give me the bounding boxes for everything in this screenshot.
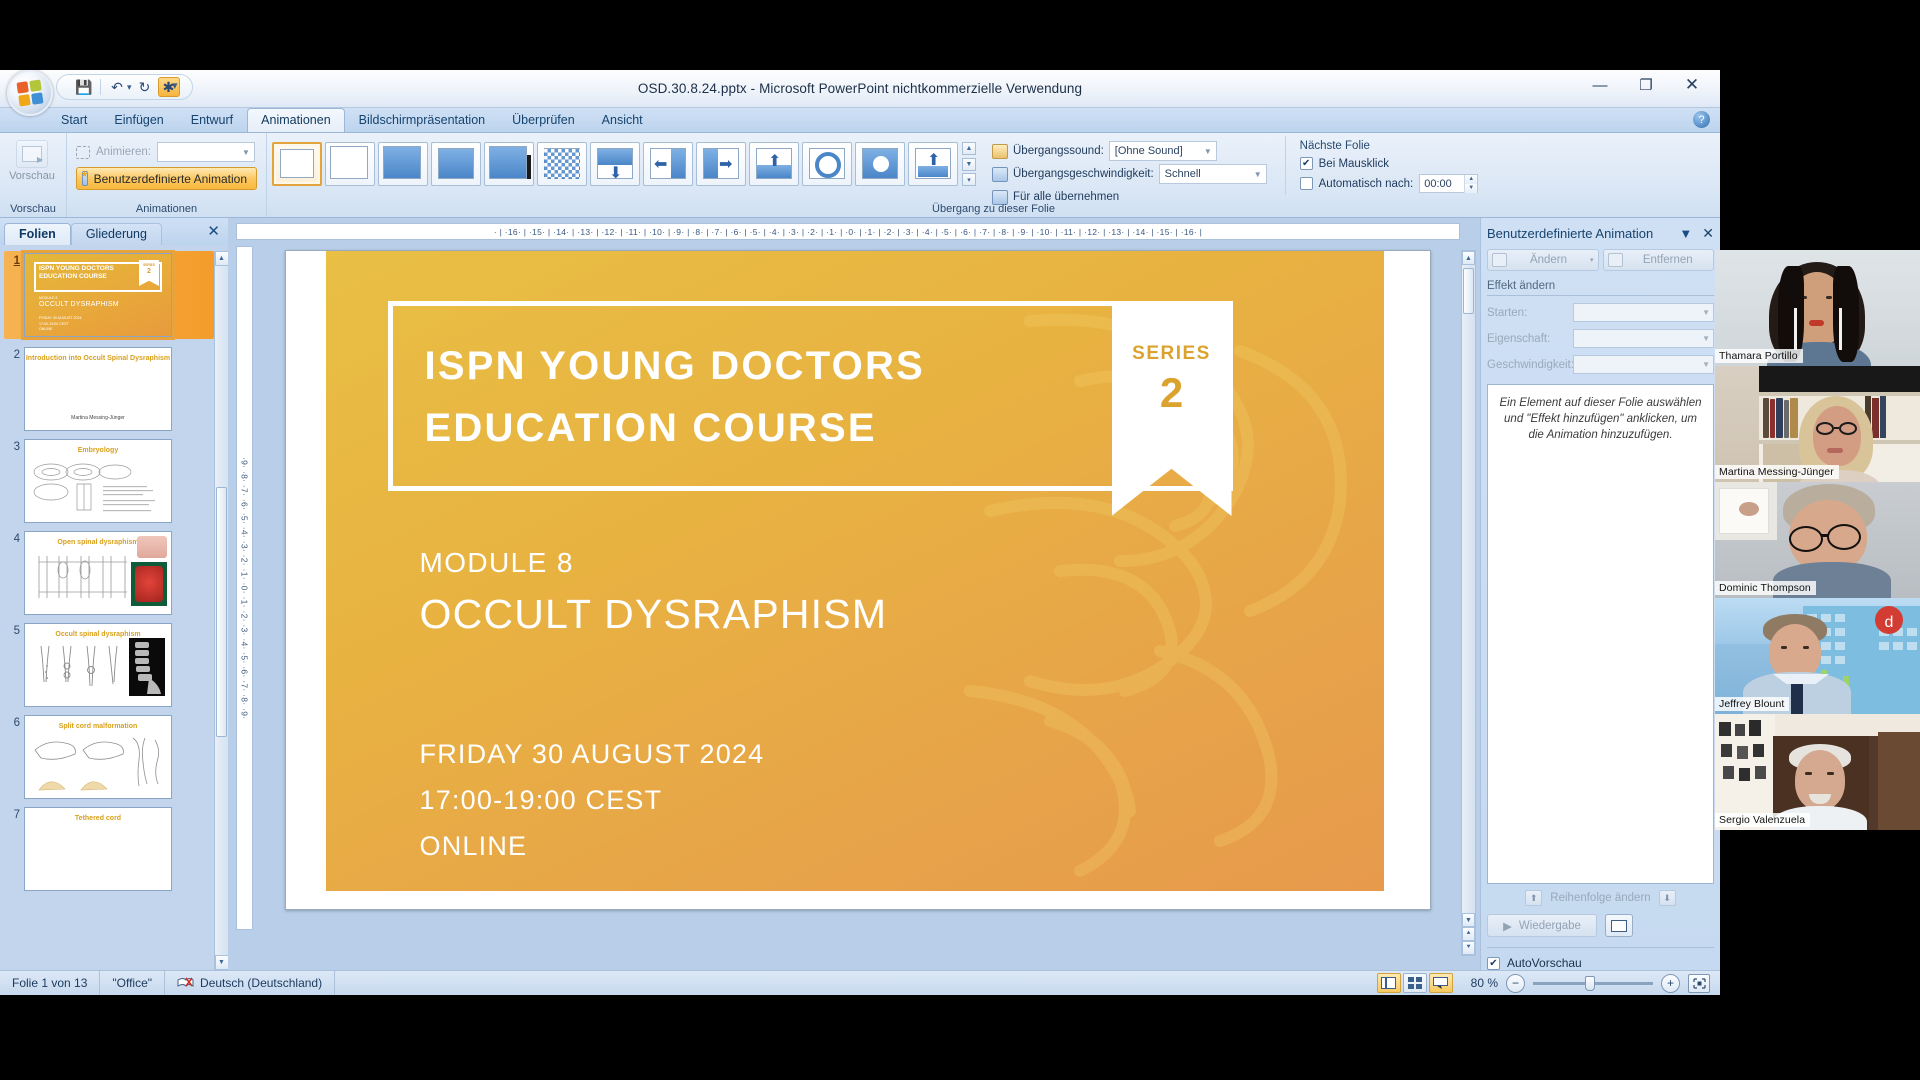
zoom-slider-handle[interactable] [1585, 976, 1595, 991]
thumbnail-slide-3[interactable]: 3 Embryology [4, 439, 214, 523]
title-bar: 💾 ↶ ▾ ↻ ✱ ▾ OSD.30.8.24.pptx - Microsoft… [0, 70, 1720, 108]
video-tile-dominic-thompson[interactable]: Dominic Thompson [1715, 482, 1920, 598]
chevron-down-icon: ▼ [1204, 147, 1212, 156]
tab-start[interactable]: Start [48, 109, 100, 132]
transition-push-left[interactable]: ⬅ [643, 142, 693, 186]
animate-dropdown[interactable]: ▼ [157, 142, 255, 162]
language-label: Deutsch (Deutschland) [200, 976, 322, 990]
reorder-row: ⬆ Reihenfolge ändern ⬇ [1487, 890, 1714, 906]
series-badge-number: 2 [1112, 369, 1232, 417]
theme-name[interactable]: "Office" [100, 971, 165, 995]
scroll-up-icon[interactable]: ▲ [215, 251, 229, 266]
transition-none[interactable] [272, 142, 322, 186]
transition-sound-value: [Ohne Sound] [1110, 145, 1204, 157]
participant-name: Dominic Thompson [1715, 581, 1816, 595]
transition-speed-dropdown[interactable]: Schnell ▼ [1159, 164, 1267, 184]
play-icon: ▶ [1503, 919, 1512, 933]
vertical-ruler[interactable]: ·9· ·8· ·7· ·6· ·5· ·4· ·3· ·2· ·1· ·0· … [236, 246, 253, 930]
status-bar: Folie 1 von 13 "Office" Deutsch (Deutsch… [0, 970, 1720, 995]
fit-to-window-button[interactable] [1688, 974, 1710, 993]
property-label: Eigenschaft: [1487, 333, 1573, 345]
view-buttons [1377, 973, 1463, 993]
scroll-down-icon[interactable]: ▼ [1462, 913, 1475, 927]
transition-shape[interactable] [855, 142, 905, 186]
move-down-icon[interactable]: ⬇ [1659, 890, 1676, 906]
autopreview-label: AutoVorschau [1507, 956, 1582, 970]
remove-effect-label: Entfernen [1627, 254, 1710, 266]
next-slide-options: Nächste Folie ✔ Bei Mausklick ✔ Automati… [1285, 136, 1483, 195]
chevron-down-icon: ▼ [1254, 170, 1262, 179]
spellcheck-icon [177, 976, 194, 990]
group-label-preview: Vorschau [0, 203, 66, 215]
transition-options: Übergangssound: [Ohne Sound] ▼ Übergangs… [992, 136, 1267, 207]
effect-section-title: Effekt ändern [1487, 280, 1714, 296]
next-slide-icon[interactable]: ⯆ [1462, 941, 1475, 955]
stepper-down-icon[interactable]: ▼ [1465, 184, 1477, 193]
transition-wheel[interactable] [802, 142, 852, 186]
auto-after-row[interactable]: ✔ Automatisch nach: 00:00 ▲▼ [1296, 172, 1483, 195]
custom-animation-icon [82, 171, 88, 186]
tab-folien[interactable]: Folien [4, 223, 71, 245]
sound-icon [992, 144, 1008, 159]
thumbnail-image: Tethered cord [24, 807, 172, 891]
maximize-button[interactable]: ❐ [1624, 72, 1668, 98]
transition-push-right[interactable]: ➡ [696, 142, 746, 186]
video-tile-sergio-valenzuela[interactable]: Sergio Valenzuela [1715, 714, 1920, 830]
transition-speed-row: Übergangsgeschwindigkeit: Schnell ▼ [992, 164, 1267, 184]
group-label-animations: Animationen [67, 203, 266, 215]
speed-icon [992, 167, 1008, 182]
thumbnail-image: Split cord malformation [24, 715, 172, 799]
language-status[interactable]: Deutsch (Deutschland) [165, 971, 335, 995]
gallery-scroll-down-icon[interactable]: ▼ [962, 158, 976, 171]
slides-pane-scrollbar[interactable]: ▲ ▼ [214, 251, 228, 970]
transition-sound-label: Übergangssound: [1013, 145, 1104, 157]
gallery-more-icon[interactable]: ▾ [962, 173, 976, 186]
thumbnail-number: 1 [4, 253, 24, 267]
thumbnail-image: Embryology [24, 439, 172, 523]
property-field-row: Eigenschaft: ▼ [1487, 329, 1714, 348]
reorder-label: Reihenfolge ändern [1550, 892, 1650, 904]
transition-fade-1[interactable] [325, 142, 375, 186]
thumbnail-number: 7 [4, 807, 24, 821]
custom-animation-label: Benutzerdefinierte Animation [94, 172, 247, 186]
powerpoint-window: 💾 ↶ ▾ ↻ ✱ ▾ OSD.30.8.24.pptx - Microsoft… [0, 70, 1720, 995]
tab-einfuegen[interactable]: Einfügen [101, 109, 176, 132]
save-icon[interactable]: 💾 [73, 77, 95, 97]
tab-ansicht[interactable]: Ansicht [589, 109, 656, 132]
next-slide-title: Nächste Folie [1296, 136, 1483, 155]
transition-speed-value: Schnell [1160, 168, 1254, 180]
gallery-scrollbar[interactable]: ▲ ▼ ▾ [962, 142, 976, 186]
slide-time: 17:00-19:00 CEST [420, 777, 765, 823]
svg-text:d: d [1885, 614, 1894, 631]
chevron-down-icon[interactable]: ▾ [1590, 256, 1594, 264]
close-button[interactable]: ✕ [1670, 72, 1714, 98]
slide-details: FRIDAY 30 AUGUST 2024 17:00-19:00 CEST O… [420, 731, 765, 869]
thumbnail-number: 4 [4, 531, 24, 545]
stepper-up-icon[interactable]: ▲ [1465, 175, 1477, 184]
thumbnail-subtitle: Martina Messing-Jünger [25, 415, 171, 421]
series-badge: SERIES 2 [1112, 301, 1232, 516]
ribbon-group-transition: ⬇ ⬅ ➡ ⬆ ⬆ ▲ ▼ ▾ [266, 133, 1720, 217]
workspace: Folien Gliederung ✕ 1 ISPN YOUNG DOCTORS… [0, 218, 1720, 970]
video-tile-thamara-portillo[interactable]: Thamara Portillo [1715, 250, 1920, 366]
slideshow-view-button[interactable] [1429, 973, 1453, 993]
transition-gallery: ⬇ ⬅ ➡ ⬆ ⬆ [272, 136, 958, 186]
slide-thumbnail-list[interactable]: 1 ISPN YOUNG DOCTORSEDUCATION COURSE SER… [0, 245, 228, 970]
thumbnail-image: Open spinal dysraphism [24, 531, 172, 615]
tab-bildschirmpraesentation[interactable]: Bildschirmpräsentation [346, 109, 498, 132]
video-tile-jeffrey-blount[interactable]: d Jeffrey Blount [1715, 598, 1920, 714]
animate-icon [76, 146, 90, 159]
move-up-icon[interactable]: ⬆ [1525, 890, 1542, 906]
thumbnail-image: ISPN YOUNG DOCTORSEDUCATION COURSE SERIE… [24, 253, 172, 337]
transition-wipe-2[interactable] [484, 142, 534, 186]
remove-effect-icon [1608, 253, 1623, 267]
play-button[interactable]: ▶ Wiedergabe [1487, 914, 1597, 937]
start-label: Starten: [1487, 307, 1573, 319]
transition-dissolve[interactable] [537, 142, 587, 186]
slide-header-line2: EDUCATION COURSE [425, 406, 877, 450]
apply-to-all-label: Für alle übernehmen [1013, 191, 1119, 203]
participant-name: Sergio Valenzuela [1715, 813, 1810, 827]
slide-date: FRIDAY 30 AUGUST 2024 [420, 731, 765, 777]
window-title: OSD.30.8.24.pptx - Microsoft PowerPoint … [0, 81, 1720, 96]
thumbnail-title: Split cord malformation [25, 723, 171, 730]
tab-entwurf[interactable]: Entwurf [178, 109, 246, 132]
qat-more-icon[interactable]: ▾ [172, 79, 178, 92]
zoom-out-button[interactable]: − [1506, 974, 1525, 993]
scroll-down-icon[interactable]: ▼ [215, 955, 229, 970]
video-tile-martina-messing-junger[interactable]: Martina Messing-Jünger [1715, 366, 1920, 482]
scroll-up-icon[interactable]: ▲ [1462, 251, 1475, 265]
slide-count: Folie 1 von 13 [0, 971, 100, 995]
window-controls: — ❐ ✕ [1578, 72, 1714, 98]
start-dropdown[interactable]: ▼ [1573, 303, 1714, 322]
slide-topic: OCCULT DYSRAPHISM [420, 591, 888, 638]
autopreview-row[interactable]: ✔ AutoVorschau [1487, 947, 1714, 970]
zoom-level: 80 % [1463, 976, 1506, 990]
thumbnail-slide-7[interactable]: 7 Tethered cord [4, 807, 214, 891]
undo-icon[interactable]: ↶ [106, 77, 128, 97]
thumbnail-slide-4[interactable]: 4 Open spinal dysraphism [4, 531, 214, 615]
participant-name: Jeffrey Blount [1715, 697, 1789, 711]
speed-label: Geschwindigkeit: [1487, 359, 1573, 371]
header-frame: ISPN YOUNG DOCTORS EDUCATION COURSE SERI… [388, 301, 1233, 491]
change-effect-button[interactable]: Ändern ▾ [1487, 249, 1599, 271]
ribbon-tabstrip: Start Einfügen Entwurf Animationen Bilds… [0, 108, 1720, 133]
thumbnail-number: 6 [4, 715, 24, 729]
change-effect-label: Ändern [1511, 254, 1586, 266]
close-icon[interactable]: ✕ [1702, 225, 1714, 242]
thumbnail-title: Introduction into Occult Spinal Dysraphi… [25, 355, 171, 362]
scrollbar-thumb[interactable] [216, 487, 227, 737]
on-mouse-click-checkbox[interactable]: ✔ [1300, 157, 1313, 170]
autopreview-checkbox[interactable]: ✔ [1487, 957, 1500, 970]
tab-ueberpruefen[interactable]: Überprüfen [499, 109, 588, 132]
transition-uncover-up[interactable]: ⬆ [749, 142, 799, 186]
thumbnail-title: Tethered cord [25, 815, 171, 822]
auto-after-label: Automatisch nach: [1319, 178, 1414, 190]
auto-after-stepper[interactable]: 00:00 ▲▼ [1419, 174, 1478, 193]
start-field-row: Starten: ▼ [1487, 303, 1714, 322]
slide-scrollbar[interactable]: ▲ ▼ ⯅ ⯆ [1461, 250, 1476, 956]
play-row: ▶ Wiedergabe [1487, 914, 1714, 937]
thumbnail-number: 5 [4, 623, 24, 637]
transition-cover-down[interactable]: ⬇ [590, 142, 640, 186]
slides-pane-tabs: Folien Gliederung ✕ [0, 218, 228, 245]
normal-view-button[interactable] [1377, 973, 1401, 993]
play-label: Wiedergabe [1519, 920, 1581, 932]
speed-field-row: Geschwindigkeit: ▼ [1487, 355, 1714, 374]
slides-pane: Folien Gliederung ✕ 1 ISPN YOUNG DOCTORS… [0, 218, 228, 970]
thumbnail-title: Embryology [25, 447, 171, 454]
transition-fade-2[interactable] [378, 142, 428, 186]
speed-dropdown[interactable]: ▼ [1573, 355, 1714, 374]
transition-wipe-1[interactable] [431, 142, 481, 186]
transition-newsflash[interactable]: ⬆ [908, 142, 958, 186]
slide-stage[interactable]: ISPN YOUNG DOCTORS EDUCATION COURSE SERI… [253, 240, 1480, 970]
animation-list[interactable]: Ein Element auf dieser Folie auswählen u… [1487, 384, 1714, 884]
slide-header-line1: ISPN YOUNG DOCTORS [425, 344, 925, 388]
thumbnail-slide-5[interactable]: 5 Occult spinal dysraphism [4, 623, 214, 707]
previous-slide-icon[interactable]: ⯅ [1462, 927, 1475, 941]
auto-after-checkbox[interactable]: ✔ [1300, 177, 1313, 190]
ribbon: Vorschau Vorschau Animieren: ▼ Ben [0, 133, 1720, 218]
chevron-down-icon[interactable]: ▼ [1679, 226, 1692, 241]
tab-gliederung[interactable]: Gliederung [71, 223, 162, 245]
custom-animation-pane: Benutzerdefinierte Animation ▼ ✕ Ändern … [1480, 218, 1720, 970]
participant-name: Martina Messing-Jünger [1715, 465, 1839, 479]
tab-animationen[interactable]: Animationen [247, 108, 345, 132]
gallery-scroll-up-icon[interactable]: ▲ [962, 142, 976, 155]
office-button-icon[interactable] [7, 70, 53, 116]
slide-sorter-view-button[interactable] [1403, 973, 1427, 993]
zoom-in-button[interactable]: + [1661, 974, 1680, 993]
preview-button-label: Vorschau [9, 170, 55, 182]
chevron-down-icon: ▼ [242, 148, 250, 157]
slide-canvas[interactable]: ISPN YOUNG DOCTORS EDUCATION COURSE SERI… [285, 250, 1431, 910]
preview-icon [16, 140, 48, 168]
transition-speed-label: Übergangsgeschwindigkeit: [1013, 168, 1154, 180]
on-mouse-click-row[interactable]: ✔ Bei Mausklick [1296, 155, 1483, 172]
transition-sound-dropdown[interactable]: [Ohne Sound] ▼ [1109, 141, 1217, 161]
animate-row: Animieren: ▼ [72, 136, 261, 162]
thumbnail-number: 3 [4, 439, 24, 453]
group-label-transition: Übergang zu dieser Folie [267, 203, 1720, 215]
participant-name: Thamara Portillo [1715, 349, 1803, 363]
task-pane-title: Benutzerdefinierte Animation [1487, 226, 1679, 241]
animate-label: Animieren: [96, 146, 151, 158]
task-pane-toolbar: Ändern ▾ Entfernen [1487, 249, 1714, 271]
horizontal-ruler[interactable]: · | ·16· | ·15· | ·14· | ·13· | ·12· | ·… [236, 223, 1460, 240]
thumbnail-title: Occult spinal dysraphism [25, 631, 171, 638]
slide-module: MODULE 8 [420, 547, 574, 579]
thumbnail-image: Occult spinal dysraphism [24, 623, 172, 707]
close-pane-icon[interactable]: ✕ [207, 222, 220, 240]
thumbnail-slide-1[interactable]: 1 ISPN YOUNG DOCTORSEDUCATION COURSE SER… [4, 251, 214, 339]
ribbon-group-animations: Animieren: ▼ Benutzerdefinierte Animatio… [66, 133, 266, 217]
series-badge-label: SERIES [1112, 343, 1232, 365]
star-effect-icon [1492, 253, 1507, 267]
slideshow-button[interactable] [1605, 914, 1633, 937]
thumbnail-number: 2 [4, 347, 24, 361]
thumbnail-image: Introduction into Occult Spinal Dysraphi… [24, 347, 172, 431]
thumbnail-slide-2[interactable]: 2 Introduction into Occult Spinal Dysrap… [4, 347, 214, 431]
auto-after-value: 00:00 [1420, 178, 1464, 190]
thumbnail-slide-6[interactable]: 6 Split cord malformation [4, 715, 214, 799]
zoom-slider[interactable] [1533, 982, 1653, 985]
preview-button[interactable]: Vorschau [5, 136, 59, 182]
property-dropdown[interactable]: ▼ [1573, 329, 1714, 348]
task-pane-header: Benutzerdefinierte Animation ▼ ✕ [1487, 222, 1714, 244]
qat-divider [100, 79, 101, 95]
scrollbar-thumb[interactable] [1463, 268, 1474, 314]
help-icon[interactable]: ? [1693, 111, 1710, 128]
screen-root: 💾 ↶ ▾ ↻ ✱ ▾ OSD.30.8.24.pptx - Microsoft… [0, 0, 1920, 1080]
custom-animation-button[interactable]: Benutzerdefinierte Animation [76, 167, 257, 190]
transition-sound-row: Übergangssound: [Ohne Sound] ▼ [992, 141, 1267, 161]
on-mouse-click-label: Bei Mausklick [1319, 158, 1389, 170]
video-participants-strip: Thamara Portillo Martina Messing-Jün [1715, 250, 1920, 830]
minimize-button[interactable]: — [1578, 72, 1622, 98]
undo-caret-icon[interactable]: ▾ [127, 82, 132, 93]
remove-effect-button[interactable]: Entfernen [1603, 249, 1715, 271]
ribbon-group-preview: Vorschau Vorschau [0, 133, 66, 217]
slide-editor: · | ·16· | ·15· | ·14· | ·13· | ·12· | ·… [228, 218, 1480, 970]
monitor-icon [1611, 920, 1627, 932]
slide-location: ONLINE [420, 823, 765, 869]
redo-icon[interactable]: ↻ [134, 77, 156, 97]
